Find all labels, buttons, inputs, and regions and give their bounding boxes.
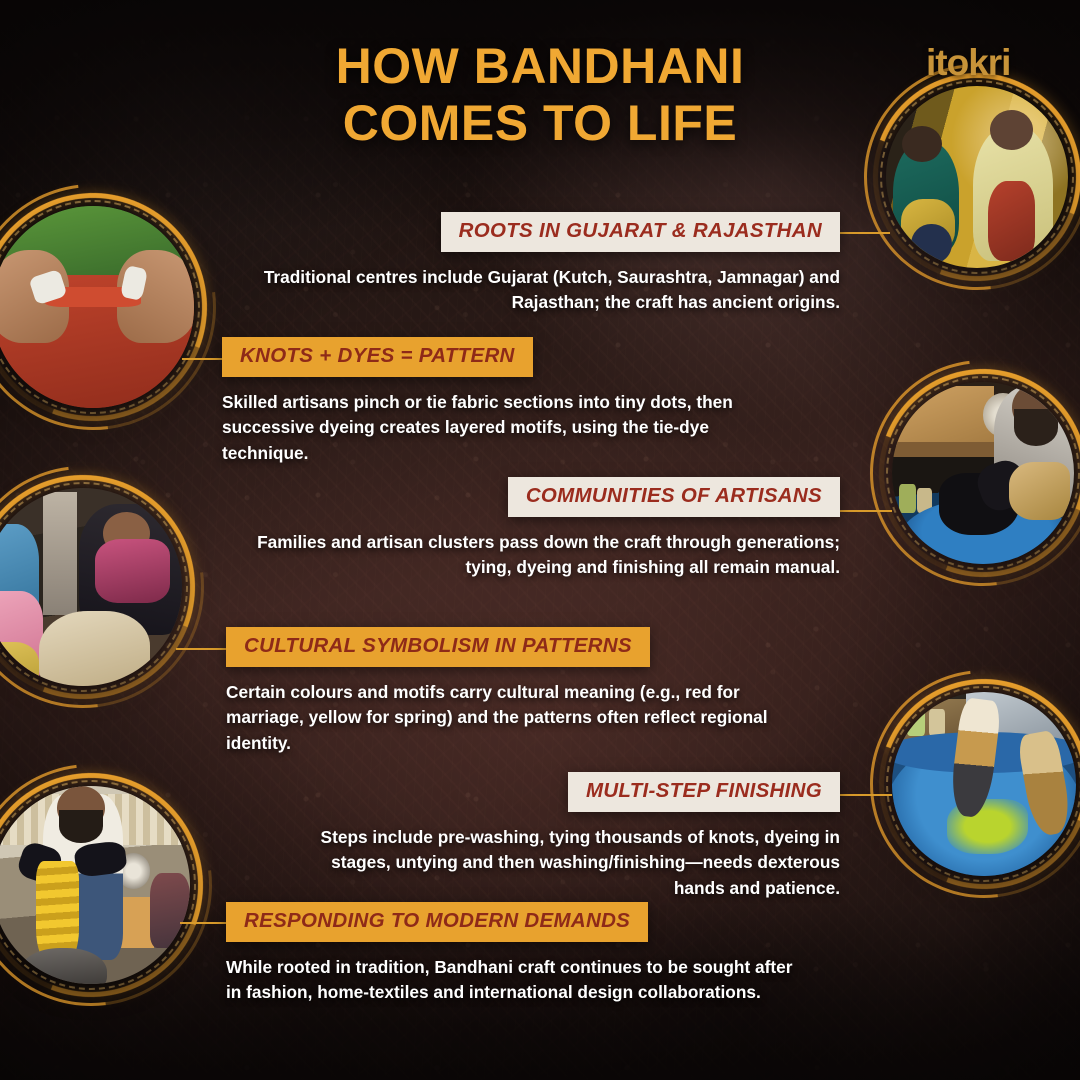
photo-hands-tying-red-fabric <box>0 206 194 408</box>
photo-dyer-blue-vat-gloves: y.y <box>892 382 1074 564</box>
section-heading-banner[interactable]: ROOTS IN GUJARAT & RAJASTHAN <box>441 212 840 252</box>
photo-dye-vat-yellow-green <box>892 692 1076 876</box>
section-responding-to-modern-demands: RESPONDING TO MODERN DEMANDS While roote… <box>226 902 796 1006</box>
section-heading-banner[interactable]: CULTURAL SYMBOLISM IN PATTERNS <box>226 627 650 667</box>
brand-logo[interactable]: itokri <box>926 40 1044 86</box>
photo-disc <box>0 488 182 686</box>
section-body-text: Steps include pre-washing, tying thousan… <box>300 825 840 901</box>
photo-disc <box>0 206 194 408</box>
photo-scene: y.y <box>892 382 1074 564</box>
crate-label: y.y <box>905 396 921 410</box>
section-heading-banner[interactable]: RESPONDING TO MODERN DEMANDS <box>226 902 648 942</box>
page-title-line-2: COMES TO LIFE <box>220 95 860 152</box>
photo-disc: y.y <box>892 382 1074 564</box>
photo-disc <box>892 692 1076 876</box>
section-body-text: Certain colours and motifs carry cultura… <box>226 680 786 756</box>
page-title-line-1: HOW BANDHANI <box>336 38 745 94</box>
section-body-text: Families and artisan clusters pass down … <box>230 530 840 581</box>
page-title: HOW BANDHANI COMES TO LIFE <box>220 38 860 151</box>
connector-line-4 <box>176 648 226 650</box>
section-body-text: Skilled artisans pinch or tie fabric sec… <box>222 390 752 466</box>
photo-disc <box>0 786 190 984</box>
section-heading-banner[interactable]: COMMUNITIES OF ARTISANS <box>508 477 840 517</box>
photo-scene <box>0 488 182 686</box>
section-heading-banner[interactable]: KNOTS + DYES = PATTERN <box>222 337 533 377</box>
brand-logo-text: itokri <box>926 40 1044 86</box>
section-heading-banner[interactable]: MULTI-STEP FINISHING <box>568 772 840 812</box>
section-knots-dyes-pattern: KNOTS + DYES = PATTERN Skilled artisans … <box>222 337 752 466</box>
photo-women-artisans-seated <box>0 488 182 686</box>
connector-line-6 <box>180 922 226 924</box>
section-roots-in-gujarat-rajasthan: ROOTS IN GUJARAT & RAJASTHAN Traditional… <box>248 212 840 316</box>
section-multi-step-finishing: MULTI-STEP FINISHING Steps include pre-w… <box>300 772 840 901</box>
section-body-text: While rooted in tradition, Bandhani craf… <box>226 955 796 1006</box>
photo-scene <box>0 786 190 984</box>
photo-scene <box>892 692 1076 876</box>
connector-line-2 <box>182 358 224 360</box>
section-body-text: Traditional centres include Gujarat (Kut… <box>248 265 840 316</box>
section-cultural-symbolism-in-patterns: CULTURAL SYMBOLISM IN PATTERNS Certain c… <box>226 627 786 756</box>
connector-line-1 <box>838 232 890 234</box>
header: HOW BANDHANI COMES TO LIFE <box>0 0 1080 190</box>
connector-line-3 <box>840 510 892 512</box>
photo-scene <box>0 206 194 408</box>
photo-man-lifting-yellow-skein <box>0 786 190 984</box>
connector-line-5 <box>838 794 892 796</box>
section-communities-of-artisans: COMMUNITIES OF ARTISANS Families and art… <box>230 477 840 581</box>
